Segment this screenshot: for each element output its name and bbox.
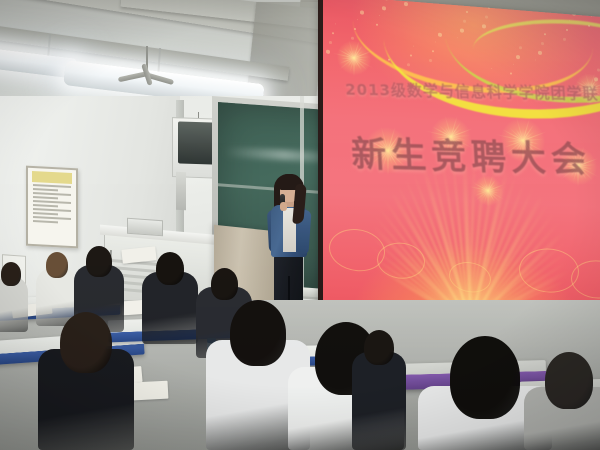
- slide-sparkle: [519, 46, 522, 49]
- slide-sparkle: [491, 68, 492, 69]
- speaker-mount: [176, 172, 186, 211]
- slide-sparkle: [457, 37, 458, 38]
- projector-screen: 2013级数学与信息科学学院团学联 新生竞聘大会: [318, 0, 600, 335]
- slide-sparkle: [510, 72, 512, 74]
- slide-sparkle: [591, 16, 592, 17]
- slide-sparkle: [566, 29, 568, 31]
- slide-sparkle: [588, 25, 590, 27]
- slide-sparkle: [435, 41, 436, 42]
- slide-sparkle: [485, 15, 488, 18]
- podium-monitor: [127, 218, 163, 237]
- slide-sparkle: [382, 6, 386, 10]
- slide-sparkle: [379, 15, 380, 16]
- student-head: [86, 246, 112, 277]
- student-head: [46, 252, 68, 278]
- slide-sparkle: [563, 38, 566, 41]
- slide-sparkle: [407, 63, 410, 66]
- student-body: [352, 352, 406, 450]
- slide-sparkle: [413, 46, 414, 47]
- notice-board-header: [32, 171, 72, 184]
- slide-sparkle: [538, 51, 542, 55]
- slide-sparkle: [535, 59, 536, 60]
- slide-sparkle: [429, 59, 432, 62]
- slide-sparkle: [351, 37, 354, 40]
- slide-sparkle: [388, 59, 390, 61]
- slide-swirl: [329, 227, 385, 274]
- notice-line: [33, 204, 58, 207]
- slide-sparkle: [432, 50, 434, 52]
- slide-sparkle: [404, 2, 408, 6]
- slide-sparkle: [357, 19, 358, 20]
- speaker-with-microphone: [258, 172, 318, 320]
- slide-sparkle: [488, 7, 490, 9]
- student-head: [545, 352, 593, 409]
- student-head: [211, 268, 238, 300]
- slide-sparkle: [544, 33, 546, 35]
- slide-sparkle: [569, 20, 570, 21]
- slide-sparkle: [466, 11, 468, 13]
- student-head: [156, 252, 184, 285]
- slide-sparkle: [438, 33, 442, 37]
- slide-sparkle: [326, 50, 330, 54]
- speaker-hand: [280, 202, 287, 211]
- slide-sparkle: [463, 20, 466, 23]
- slide-sparkle: [376, 24, 378, 26]
- slide-sparkle: [360, 10, 364, 14]
- student-mid-back-right: [352, 330, 406, 450]
- slide-sparkle: [594, 77, 598, 81]
- student-head: [60, 312, 112, 373]
- slide-subtitle: 2013级数学与信息科学学院团学联: [345, 79, 600, 105]
- slide-sparkle: [335, 23, 336, 24]
- student-head: [364, 330, 394, 365]
- notice-line: [33, 212, 58, 215]
- student-head: [230, 300, 286, 366]
- wall-notice-board: [26, 166, 78, 249]
- slide-sparkle: [329, 41, 332, 44]
- slide-sparkle: [332, 32, 334, 34]
- student-mid-suit: [142, 252, 198, 344]
- slide-firework-burst: [337, 40, 371, 77]
- slide-sparkle: [516, 55, 520, 59]
- wall-mounted-speaker: [178, 121, 214, 164]
- slide-sparkle: [410, 54, 412, 56]
- student-front-ponytail: [38, 312, 134, 450]
- projected-slide: 2013级数学与信息科学学院团学联 新生竞聘大会: [323, 0, 600, 330]
- slide-sparkle: [597, 68, 600, 71]
- slide-sparkle: [513, 64, 514, 65]
- student-far-left-edge: [0, 262, 28, 332]
- notice-line: [33, 220, 58, 223]
- slide-sparkle: [541, 42, 544, 45]
- classroom-photo: 2013级数学与信息科学学院团学联 新生竞聘大会: [0, 0, 600, 450]
- slide-sparkle: [460, 28, 464, 32]
- notice-line: [33, 196, 58, 199]
- notice-line: [33, 188, 58, 191]
- student-head: [1, 262, 21, 286]
- slide-sparkle: [482, 24, 486, 28]
- student-head: [450, 336, 520, 419]
- student-far-right-corner: [524, 352, 600, 450]
- slide-sparkle: [354, 28, 356, 30]
- slide-title: 新生竞聘大会: [350, 126, 600, 184]
